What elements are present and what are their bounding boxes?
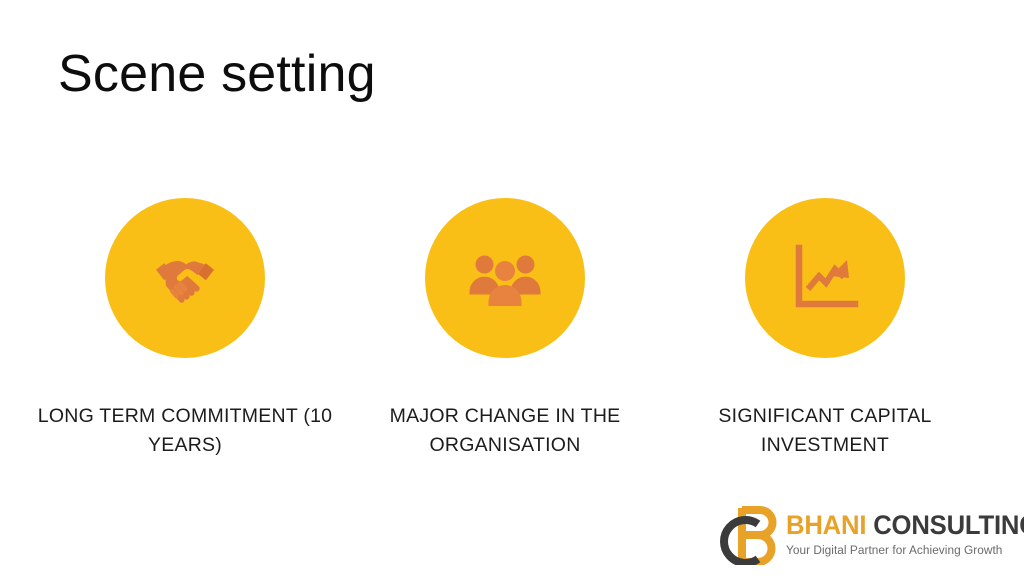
cb-monogram-icon: [712, 503, 780, 565]
card-capital-investment: SIGNIFICANT CAPITAL INVESTMENT: [665, 198, 985, 460]
logo-tagline: Your Digital Partner for Achieving Growt…: [786, 543, 1024, 557]
logo-word: [866, 510, 873, 540]
logo-word-consulting: CONSULTING: [873, 510, 1024, 540]
icon-circle-3: [745, 198, 905, 358]
card-label: LONG TERM COMMITMENT (10 YEARS): [35, 402, 335, 460]
card-label: MAJOR CHANGE IN THE ORGANISATION: [355, 402, 655, 460]
presentation-slide: Scene setting: [0, 0, 1024, 581]
icon-circle-2: [425, 198, 585, 358]
card-row: LONG TERM COMMITMENT (10 YEARS): [0, 198, 1024, 460]
logo-brand: BHANI: [786, 510, 866, 540]
people-group-icon: [467, 246, 543, 310]
card-label: SIGNIFICANT CAPITAL INVESTMENT: [675, 402, 975, 460]
growth-chart-icon: [789, 242, 861, 314]
page-title: Scene setting: [58, 45, 376, 105]
icon-circle-1: [105, 198, 265, 358]
handshake-icon: [150, 243, 220, 313]
logo-name: BHANI CONSULTING: [786, 512, 1024, 539]
card-long-term-commitment: LONG TERM COMMITMENT (10 YEARS): [25, 198, 345, 460]
card-major-change: MAJOR CHANGE IN THE ORGANISATION: [345, 198, 665, 460]
logo-text-block: BHANI CONSULTING Your Digital Partner fo…: [786, 512, 1024, 557]
brand-logo: BHANI CONSULTING Your Digital Partner fo…: [712, 503, 1024, 565]
